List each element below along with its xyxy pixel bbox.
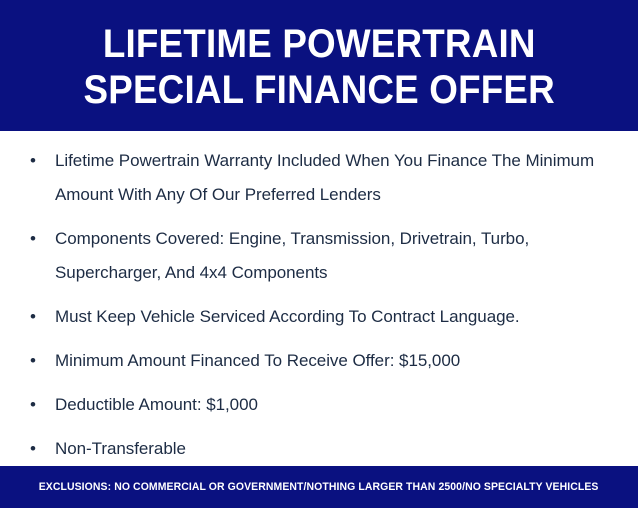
page-title-line-1: LIFETIME POWERTRAIN <box>103 21 536 67</box>
list-item: • Minimum Amount Financed To Receive Off… <box>22 344 618 378</box>
bullet-dot-icon: • <box>30 388 44 422</box>
list-item-text: Components Covered: Engine, Transmission… <box>55 222 618 290</box>
list-item-text: Non-Transferable <box>55 432 618 466</box>
bullet-dot-icon: • <box>30 222 44 256</box>
bullet-dot-icon: • <box>30 300 44 334</box>
exclusions-footer: EXCLUSIONS: NO COMMERCIAL OR GOVERNMENT/… <box>0 466 638 508</box>
offer-bullet-list: • Lifetime Powertrain Warranty Included … <box>22 144 618 466</box>
list-item: • Non-Transferable <box>22 432 618 466</box>
list-item: • Deductible Amount: $1,000 <box>22 388 618 422</box>
bullet-dot-icon: • <box>30 144 44 178</box>
list-item-text: Deductible Amount: $1,000 <box>55 388 618 422</box>
list-item: • Must Keep Vehicle Serviced According T… <box>22 300 618 334</box>
list-item-text: Lifetime Powertrain Warranty Included Wh… <box>55 144 618 212</box>
offer-details-body: • Lifetime Powertrain Warranty Included … <box>0 131 638 466</box>
exclusions-text: EXCLUSIONS: NO COMMERCIAL OR GOVERNMENT/… <box>39 481 599 493</box>
bullet-dot-icon: • <box>30 432 44 466</box>
list-item: • Components Covered: Engine, Transmissi… <box>22 222 618 290</box>
list-item-text: Minimum Amount Financed To Receive Offer… <box>55 344 618 378</box>
header-banner: LIFETIME POWERTRAIN SPECIAL FINANCE OFFE… <box>0 0 638 131</box>
list-item: • Lifetime Powertrain Warranty Included … <box>22 144 618 212</box>
offer-slide: LIFETIME POWERTRAIN SPECIAL FINANCE OFFE… <box>0 0 638 479</box>
list-item-text: Must Keep Vehicle Serviced According To … <box>55 300 618 334</box>
bullet-dot-icon: • <box>30 344 44 378</box>
page-title-line-2: SPECIAL FINANCE OFFER <box>83 67 554 113</box>
